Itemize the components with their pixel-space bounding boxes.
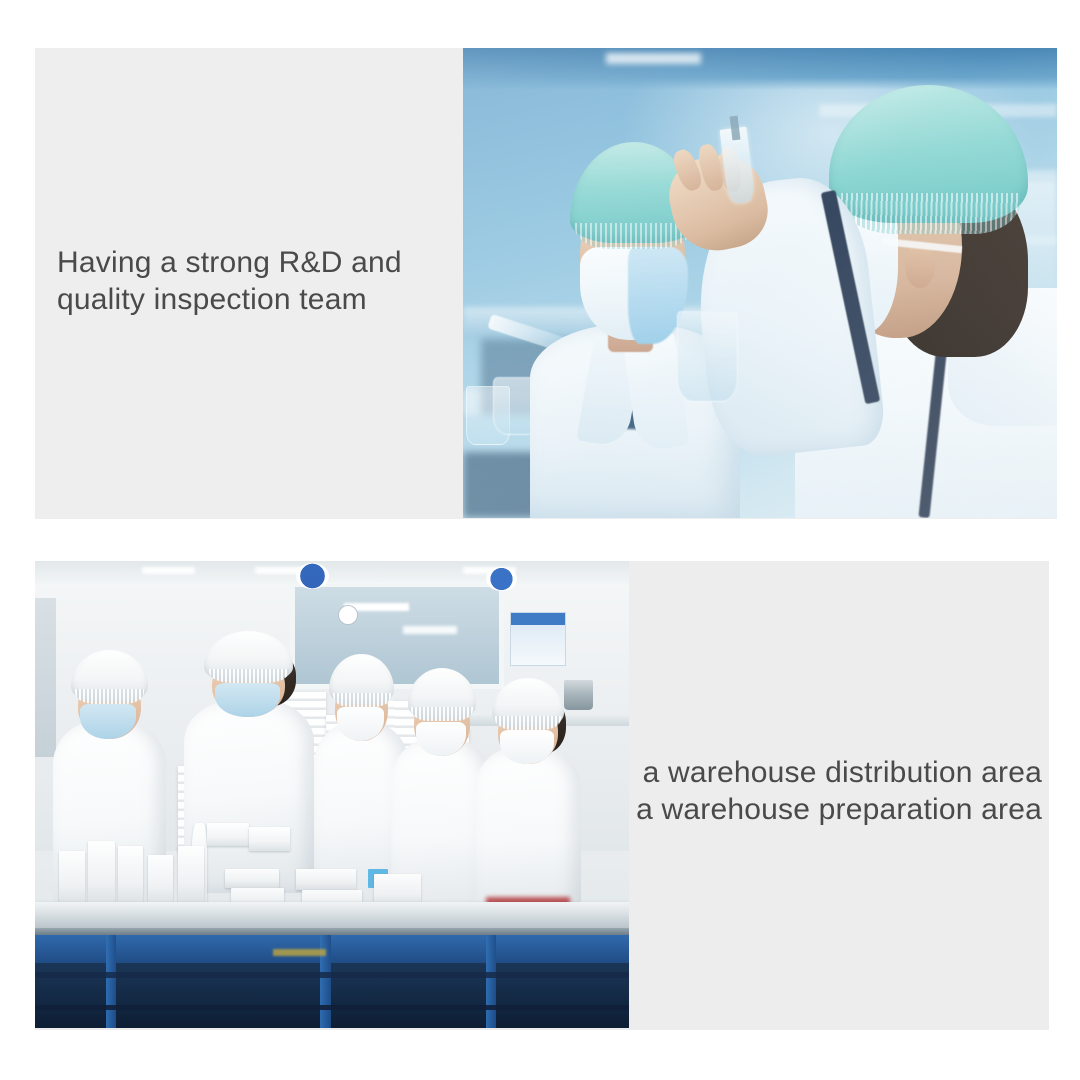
product-carton (118, 846, 143, 907)
table-frame-blue (35, 935, 629, 963)
table-rail (35, 1005, 629, 1011)
hairnet-cap-icon (408, 668, 477, 719)
top-section-caption: Having a strong R&D and quality inspecti… (57, 244, 457, 318)
product-carton (296, 869, 355, 890)
hairnet-cap-icon (71, 650, 148, 701)
hairnet-cap-icon (204, 631, 293, 681)
stainless-work-table (35, 902, 629, 930)
yellow-floor-marking (273, 949, 326, 956)
warehouse-photo (35, 561, 629, 1028)
hairnet-cap-icon (492, 678, 565, 728)
product-carton (148, 855, 173, 906)
wall-notice-board (510, 612, 565, 665)
product-carton (225, 869, 278, 888)
product-carton (249, 827, 291, 850)
lab-beaker (677, 311, 738, 402)
product-carton (88, 841, 114, 906)
bottom-section-caption: a warehouse distribution area a warehous… (595, 754, 1042, 828)
lab-scene (463, 48, 1057, 518)
hairnet-cap-icon (829, 85, 1029, 223)
warehouse-scene (35, 561, 629, 1028)
bottom-section-panel: a warehouse distribution area a warehous… (35, 561, 1049, 1030)
table-leg (106, 935, 116, 1028)
table-rail (35, 972, 629, 979)
blue-circular-sign-icon (486, 567, 517, 591)
table-leg (486, 935, 496, 1028)
page-root: Having a strong R&D and quality inspecti… (0, 0, 1080, 1080)
product-carton (207, 823, 249, 846)
warehouse-ceiling (35, 561, 629, 584)
blue-circular-sign-icon (296, 563, 329, 589)
ceiling-light-icon (142, 567, 195, 574)
lab-ceiling-light-icon (606, 53, 701, 64)
lab-photo (463, 48, 1057, 518)
hairnet-cap-icon (329, 654, 394, 704)
product-carton (59, 851, 85, 907)
top-section-panel: Having a strong R&D and quality inspecti… (35, 48, 1057, 519)
wall-clock-icon (338, 605, 358, 625)
notice-header-bar (511, 613, 564, 624)
product-carton (178, 846, 204, 907)
window-light-reflection (403, 626, 456, 633)
